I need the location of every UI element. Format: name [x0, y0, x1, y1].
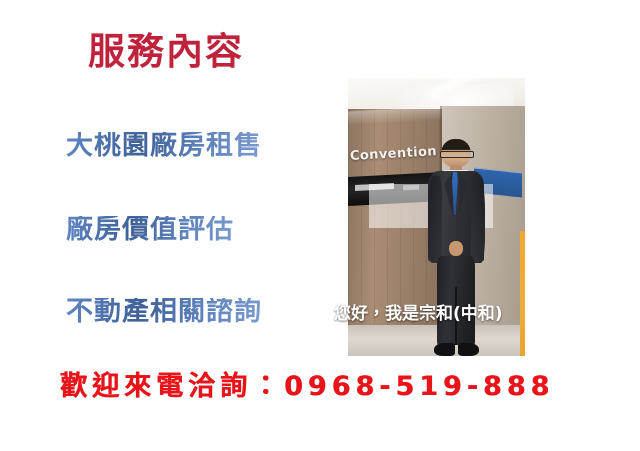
service-item-2: 廠房價值評估	[66, 216, 234, 243]
slide-canvas: 服務內容 大桃園廠房租售 廠房價值評估 不動產相關諮詢 歡迎來電洽詢：0968-…	[0, 0, 640, 451]
service-item-3: 不動產相關諮詢	[66, 298, 262, 325]
person-arm-right	[471, 176, 485, 263]
contact-phone-line: 歡迎來電洽詢：0968-519-888	[60, 373, 554, 400]
page-title: 服務內容	[88, 33, 244, 70]
person-hands	[449, 241, 463, 256]
photo-caption: 您好，我是宗和(中和)	[334, 306, 503, 323]
person-shoe-right	[458, 343, 479, 356]
person-glasses	[440, 151, 475, 158]
service-item-1: 大桃園廠房租售	[66, 132, 262, 159]
person-arm-left	[428, 176, 442, 263]
photo-amber-strip	[520, 231, 525, 356]
person-shoe-left	[434, 343, 455, 356]
